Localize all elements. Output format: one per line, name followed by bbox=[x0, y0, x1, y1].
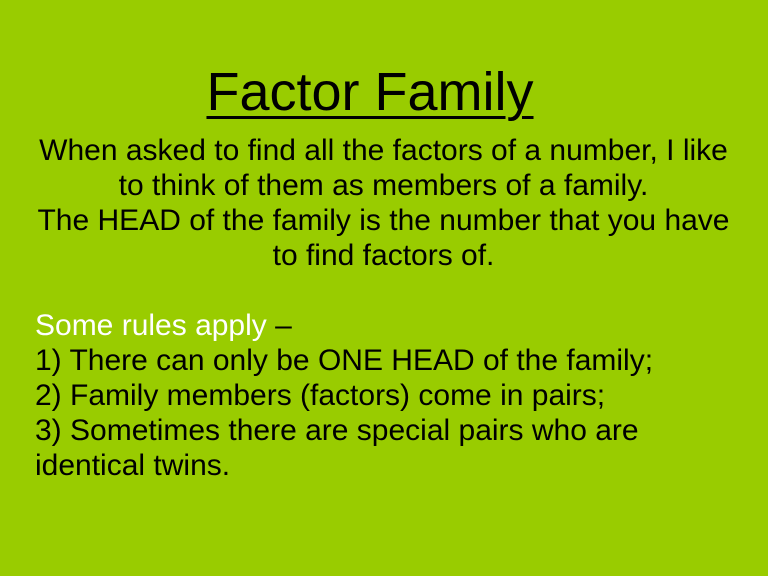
slide-canvas: Factor Family When asked to find all the… bbox=[0, 0, 768, 576]
slide-body: When asked to find all the factors of a … bbox=[35, 133, 732, 483]
page-title: Factor Family bbox=[206, 64, 533, 120]
rule-item-2: 2) Family members (factors) come in pair… bbox=[35, 378, 732, 413]
intro-line-2: to think of them as members of a family. bbox=[35, 168, 732, 203]
rules-list: Some rules apply – 1) There can only be … bbox=[35, 308, 732, 483]
paragraph-spacer bbox=[35, 273, 732, 308]
rules-heading-dash: – bbox=[267, 309, 292, 342]
rules-heading-label: Some rules apply bbox=[35, 309, 267, 342]
intro-paragraph: When asked to find all the factors of a … bbox=[35, 133, 732, 273]
intro-line-1: When asked to find all the factors of a … bbox=[35, 133, 732, 168]
rule-item-3: 3) Sometimes there are special pairs who… bbox=[35, 413, 732, 483]
rule-item-1: 1) There can only be ONE HEAD of the fam… bbox=[35, 343, 732, 378]
rules-heading: Some rules apply – bbox=[35, 308, 732, 343]
intro-line-4: to find factors of. bbox=[35, 238, 732, 273]
intro-line-3: The HEAD of the family is the number tha… bbox=[35, 203, 732, 238]
